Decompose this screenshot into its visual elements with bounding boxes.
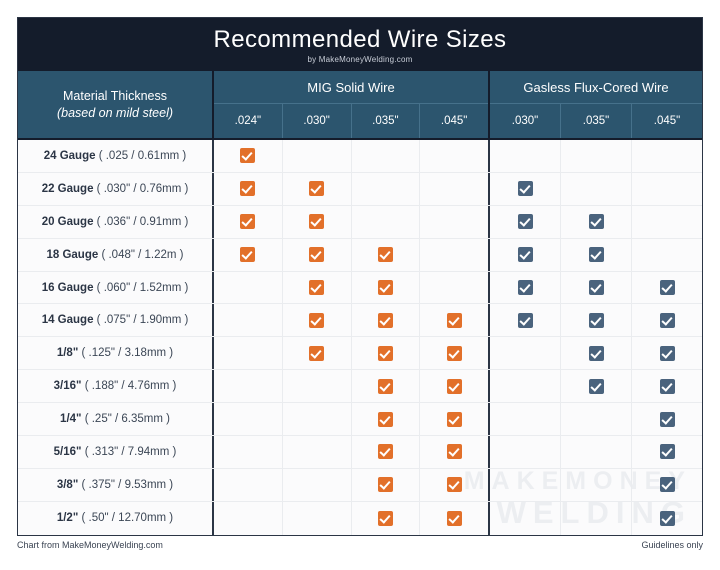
- row-label: 5/16" ( .313" / 7.94mm ): [18, 436, 214, 468]
- checkmark-icon: [660, 346, 675, 361]
- row-segment-mig: [214, 370, 490, 402]
- cell-checked-flux-0: [490, 239, 561, 271]
- row-label: 1/8" ( .125" / 3.18mm ): [18, 337, 214, 369]
- checkmark-icon: [518, 247, 533, 262]
- column-header-flux-0: .030": [490, 104, 561, 138]
- row-label: 20 Gauge ( .036" / 0.91mm ): [18, 206, 214, 238]
- row-label: 1/4" ( .25" / 6.35mm ): [18, 403, 214, 435]
- cell-empty-mig-2: [352, 140, 421, 172]
- cell-empty-mig-1: [283, 502, 352, 535]
- cell-checked-mig-3: [420, 337, 488, 369]
- checkmark-icon: [447, 379, 462, 394]
- header-material-thickness: Material Thickness (based on mild steel): [18, 71, 214, 138]
- row-label-size: 20 Gauge: [42, 216, 94, 228]
- checkmark-icon: [660, 444, 675, 459]
- cell-empty-flux-2: [632, 173, 702, 205]
- checkmark-icon: [309, 247, 324, 262]
- cell-empty-flux-0: [490, 502, 561, 535]
- cell-empty-mig-2: [352, 206, 421, 238]
- checkmark-icon: [240, 247, 255, 262]
- chart-footer: Chart from MakeMoneyWelding.com Guidelin…: [17, 540, 703, 550]
- row-segment-mig: [214, 140, 490, 172]
- table-row: 1/4" ( .25" / 6.35mm ): [18, 403, 702, 436]
- cell-checked-mig-3: [420, 370, 488, 402]
- cell-empty-mig-3: [420, 272, 488, 304]
- cell-checked-mig-2: [352, 469, 421, 501]
- row-label-dimensions: ( .036" / 0.91mm ): [97, 216, 189, 228]
- cell-empty-flux-0: [490, 140, 561, 172]
- row-label: 3/16" ( .188" / 4.76mm ): [18, 370, 214, 402]
- chart-attribution: by MakeMoneyWelding.com: [308, 55, 413, 64]
- cell-checked-mig-2: [352, 304, 421, 336]
- table-body: MAKEMONEY WELDING 24 Gauge ( .025 / 0.61…: [18, 140, 702, 535]
- footer-source: Chart from MakeMoneyWelding.com: [17, 540, 163, 550]
- checkmark-icon: [660, 280, 675, 295]
- row-segment-flux: [490, 272, 702, 304]
- row-segment-flux: [490, 304, 702, 336]
- cell-checked-flux-1: [561, 337, 632, 369]
- cell-empty-mig-0: [214, 469, 283, 501]
- row-label-size: 14 Gauge: [42, 314, 94, 326]
- cell-empty-flux-0: [490, 469, 561, 501]
- header-group-flux-label: Gasless Flux-Cored Wire: [490, 71, 702, 104]
- cell-empty-flux-0: [490, 370, 561, 402]
- cell-checked-flux-0: [490, 272, 561, 304]
- cell-empty-mig-0: [214, 272, 283, 304]
- header-group-flux: Gasless Flux-Cored Wire .030".035".045": [490, 71, 702, 138]
- table-row: 14 Gauge ( .075" / 1.90mm ): [18, 304, 702, 337]
- cell-checked-flux-1: [561, 304, 632, 336]
- row-segment-mig: [214, 206, 490, 238]
- cell-empty-flux-1: [561, 140, 632, 172]
- header-group-mig-label: MIG Solid Wire: [214, 71, 488, 104]
- checkmark-icon: [447, 477, 462, 492]
- row-segment-mig: [214, 436, 490, 468]
- checkmark-icon: [309, 214, 324, 229]
- checkmark-icon: [589, 346, 604, 361]
- checkmark-icon: [589, 214, 604, 229]
- cell-empty-flux-1: [561, 436, 632, 468]
- cell-empty-flux-0: [490, 337, 561, 369]
- checkmark-icon: [309, 280, 324, 295]
- row-label-dimensions: ( .025 / 0.61mm ): [99, 150, 187, 162]
- row-label-size: 18 Gauge: [46, 249, 98, 261]
- checkmark-icon: [447, 444, 462, 459]
- cell-checked-flux-1: [561, 370, 632, 402]
- cell-empty-flux-1: [561, 173, 632, 205]
- cell-checked-mig-1: [283, 304, 352, 336]
- header-thickness-line1: Material Thickness: [63, 88, 167, 105]
- row-segment-flux: [490, 239, 702, 271]
- cell-checked-mig-3: [420, 502, 488, 535]
- header-group-mig: MIG Solid Wire .024".030".035".045": [214, 71, 490, 138]
- cell-empty-mig-3: [420, 206, 488, 238]
- cell-empty-mig-2: [352, 173, 421, 205]
- cell-checked-mig-2: [352, 239, 421, 271]
- checkmark-icon: [309, 313, 324, 328]
- cell-checked-mig-0: [214, 239, 283, 271]
- row-segment-mig: [214, 469, 490, 501]
- cell-empty-mig-0: [214, 502, 283, 535]
- row-label-dimensions: ( .060" / 1.52mm ): [97, 282, 189, 294]
- row-segment-flux: [490, 140, 702, 172]
- cell-checked-flux-2: [632, 403, 702, 435]
- row-label-size: 3/8": [57, 479, 78, 491]
- row-segment-mig: [214, 337, 490, 369]
- checkmark-icon: [518, 280, 533, 295]
- row-segment-flux: [490, 403, 702, 435]
- column-header-flux-2: .045": [632, 104, 702, 138]
- cell-checked-mig-1: [283, 337, 352, 369]
- row-label-size: 5/16": [54, 446, 82, 458]
- cell-checked-mig-3: [420, 403, 488, 435]
- checkmark-icon: [240, 148, 255, 163]
- row-label: 18 Gauge ( .048" / 1.22m ): [18, 239, 214, 271]
- cell-checked-mig-2: [352, 502, 421, 535]
- cell-empty-flux-2: [632, 140, 702, 172]
- cell-empty-mig-0: [214, 370, 283, 402]
- cell-checked-mig-2: [352, 337, 421, 369]
- cell-checked-mig-2: [352, 370, 421, 402]
- row-label-dimensions: ( .048" / 1.22m ): [101, 249, 183, 261]
- checkmark-icon: [589, 379, 604, 394]
- cell-empty-mig-1: [283, 370, 352, 402]
- row-label: 14 Gauge ( .075" / 1.90mm ): [18, 304, 214, 336]
- checkmark-icon: [589, 247, 604, 262]
- checkmark-icon: [309, 181, 324, 196]
- checkmark-icon: [309, 346, 324, 361]
- table-row: 18 Gauge ( .048" / 1.22m ): [18, 239, 702, 272]
- cell-checked-flux-2: [632, 337, 702, 369]
- header-flux-columns: .030".035".045": [490, 104, 702, 138]
- row-label-size: 24 Gauge: [44, 150, 96, 162]
- table-row: 5/16" ( .313" / 7.94mm ): [18, 436, 702, 469]
- cell-checked-flux-0: [490, 173, 561, 205]
- checkmark-icon: [518, 181, 533, 196]
- row-label: 22 Gauge ( .030" / 0.76mm ): [18, 173, 214, 205]
- row-label-dimensions: ( .25" / 6.35mm ): [85, 413, 170, 425]
- column-header-mig-1: .030": [283, 104, 352, 138]
- checkmark-icon: [447, 346, 462, 361]
- cell-empty-mig-0: [214, 403, 283, 435]
- checkmark-icon: [660, 379, 675, 394]
- checkmark-icon: [589, 313, 604, 328]
- cell-checked-flux-0: [490, 206, 561, 238]
- cell-checked-mig-1: [283, 239, 352, 271]
- cell-checked-mig-1: [283, 272, 352, 304]
- cell-checked-flux-2: [632, 502, 702, 535]
- checkmark-icon: [378, 280, 393, 295]
- cell-empty-flux-1: [561, 502, 632, 535]
- cell-checked-mig-0: [214, 140, 283, 172]
- cell-empty-mig-1: [283, 436, 352, 468]
- row-label-dimensions: ( .375" / 9.53mm ): [82, 479, 174, 491]
- cell-empty-flux-0: [490, 403, 561, 435]
- table-row: 1/2" ( .50" / 12.70mm ): [18, 502, 702, 535]
- checkmark-icon: [378, 412, 393, 427]
- row-label: 1/2" ( .50" / 12.70mm ): [18, 502, 214, 535]
- row-label-size: 1/4": [60, 413, 81, 425]
- row-segment-mig: [214, 304, 490, 336]
- table-row: 20 Gauge ( .036" / 0.91mm ): [18, 206, 702, 239]
- checkmark-icon: [447, 511, 462, 526]
- table-row: 1/8" ( .125" / 3.18mm ): [18, 337, 702, 370]
- cell-empty-flux-2: [632, 239, 702, 271]
- checkmark-icon: [240, 214, 255, 229]
- row-label-dimensions: ( .125" / 3.18mm ): [82, 347, 174, 359]
- table-header: Material Thickness (based on mild steel)…: [18, 71, 702, 140]
- cell-checked-mig-0: [214, 206, 283, 238]
- cell-checked-flux-1: [561, 272, 632, 304]
- row-label: 3/8" ( .375" / 9.53mm ): [18, 469, 214, 501]
- row-segment-flux: [490, 370, 702, 402]
- cell-empty-mig-1: [283, 469, 352, 501]
- table-rows: 24 Gauge ( .025 / 0.61mm )22 Gauge ( .03…: [18, 140, 702, 535]
- checkmark-icon: [660, 477, 675, 492]
- table-row: 24 Gauge ( .025 / 0.61mm ): [18, 140, 702, 173]
- cell-checked-flux-1: [561, 239, 632, 271]
- row-segment-mig: [214, 272, 490, 304]
- row-segment-flux: [490, 469, 702, 501]
- cell-empty-mig-3: [420, 239, 488, 271]
- cell-checked-mig-3: [420, 304, 488, 336]
- checkmark-icon: [378, 379, 393, 394]
- table-row: 22 Gauge ( .030" / 0.76mm ): [18, 173, 702, 206]
- checkmark-icon: [660, 313, 675, 328]
- checkmark-icon: [660, 511, 675, 526]
- cell-empty-flux-2: [632, 206, 702, 238]
- checkmark-icon: [378, 247, 393, 262]
- checkmark-icon: [589, 280, 604, 295]
- cell-checked-flux-2: [632, 436, 702, 468]
- cell-empty-mig-1: [283, 140, 352, 172]
- column-header-mig-2: .035": [352, 104, 421, 138]
- cell-checked-mig-0: [214, 173, 283, 205]
- cell-checked-mig-2: [352, 436, 421, 468]
- cell-checked-flux-0: [490, 304, 561, 336]
- cell-empty-mig-0: [214, 436, 283, 468]
- cell-checked-flux-1: [561, 206, 632, 238]
- cell-checked-mig-2: [352, 272, 421, 304]
- row-segment-flux: [490, 206, 702, 238]
- cell-checked-mig-1: [283, 173, 352, 205]
- cell-checked-flux-2: [632, 469, 702, 501]
- cell-checked-mig-3: [420, 469, 488, 501]
- row-label: 16 Gauge ( .060" / 1.52mm ): [18, 272, 214, 304]
- row-label-size: 1/8": [57, 347, 78, 359]
- table-row: 3/8" ( .375" / 9.53mm ): [18, 469, 702, 502]
- cell-checked-mig-3: [420, 436, 488, 468]
- row-segment-flux: [490, 436, 702, 468]
- column-header-mig-3: .045": [420, 104, 488, 138]
- checkmark-icon: [447, 313, 462, 328]
- cell-checked-mig-1: [283, 206, 352, 238]
- checkmark-icon: [378, 511, 393, 526]
- checkmark-icon: [378, 444, 393, 459]
- checkmark-icon: [378, 313, 393, 328]
- page-title: Recommended Wire Sizes: [214, 27, 507, 52]
- cell-empty-flux-1: [561, 469, 632, 501]
- row-label-size: 22 Gauge: [42, 183, 94, 195]
- cell-empty-mig-0: [214, 304, 283, 336]
- row-label-dimensions: ( .075" / 1.90mm ): [97, 314, 189, 326]
- checkmark-icon: [378, 346, 393, 361]
- header-thickness-line2: (based on mild steel): [57, 105, 173, 122]
- row-label-size: 16 Gauge: [42, 282, 94, 294]
- column-header-flux-1: .035": [561, 104, 632, 138]
- row-label-dimensions: ( .030" / 0.76mm ): [97, 183, 189, 195]
- row-segment-mig: [214, 239, 490, 271]
- row-label-dimensions: ( .50" / 12.70mm ): [82, 512, 174, 524]
- cell-checked-flux-2: [632, 272, 702, 304]
- row-label-size: 3/16": [54, 380, 82, 392]
- row-segment-flux: [490, 337, 702, 369]
- cell-empty-mig-3: [420, 173, 488, 205]
- column-header-mig-0: .024": [214, 104, 283, 138]
- cell-empty-mig-3: [420, 140, 488, 172]
- checkmark-icon: [518, 313, 533, 328]
- row-segment-mig: [214, 502, 490, 535]
- row-segment-mig: [214, 173, 490, 205]
- cell-empty-flux-0: [490, 436, 561, 468]
- row-segment-mig: [214, 403, 490, 435]
- cell-checked-mig-2: [352, 403, 421, 435]
- row-label-dimensions: ( .313" / 7.94mm ): [85, 446, 177, 458]
- chart-title-band: Recommended Wire Sizes by MakeMoneyWeldi…: [18, 18, 702, 71]
- cell-empty-mig-1: [283, 403, 352, 435]
- cell-empty-mig-0: [214, 337, 283, 369]
- wire-size-chart: Recommended Wire Sizes by MakeMoneyWeldi…: [17, 17, 703, 536]
- table-row: 16 Gauge ( .060" / 1.52mm ): [18, 272, 702, 305]
- footer-note: Guidelines only: [641, 540, 703, 550]
- checkmark-icon: [518, 214, 533, 229]
- row-label-dimensions: ( .188" / 4.76mm ): [85, 380, 177, 392]
- row-segment-flux: [490, 173, 702, 205]
- checkmark-icon: [447, 412, 462, 427]
- cell-empty-flux-1: [561, 403, 632, 435]
- row-label: 24 Gauge ( .025 / 0.61mm ): [18, 140, 214, 172]
- header-mig-columns: .024".030".035".045": [214, 104, 488, 138]
- row-label-size: 1/2": [57, 512, 78, 524]
- checkmark-icon: [660, 412, 675, 427]
- cell-checked-flux-2: [632, 304, 702, 336]
- checkmark-icon: [240, 181, 255, 196]
- checkmark-icon: [378, 477, 393, 492]
- cell-checked-flux-2: [632, 370, 702, 402]
- table-row: 3/16" ( .188" / 4.76mm ): [18, 370, 702, 403]
- row-segment-flux: [490, 502, 702, 535]
